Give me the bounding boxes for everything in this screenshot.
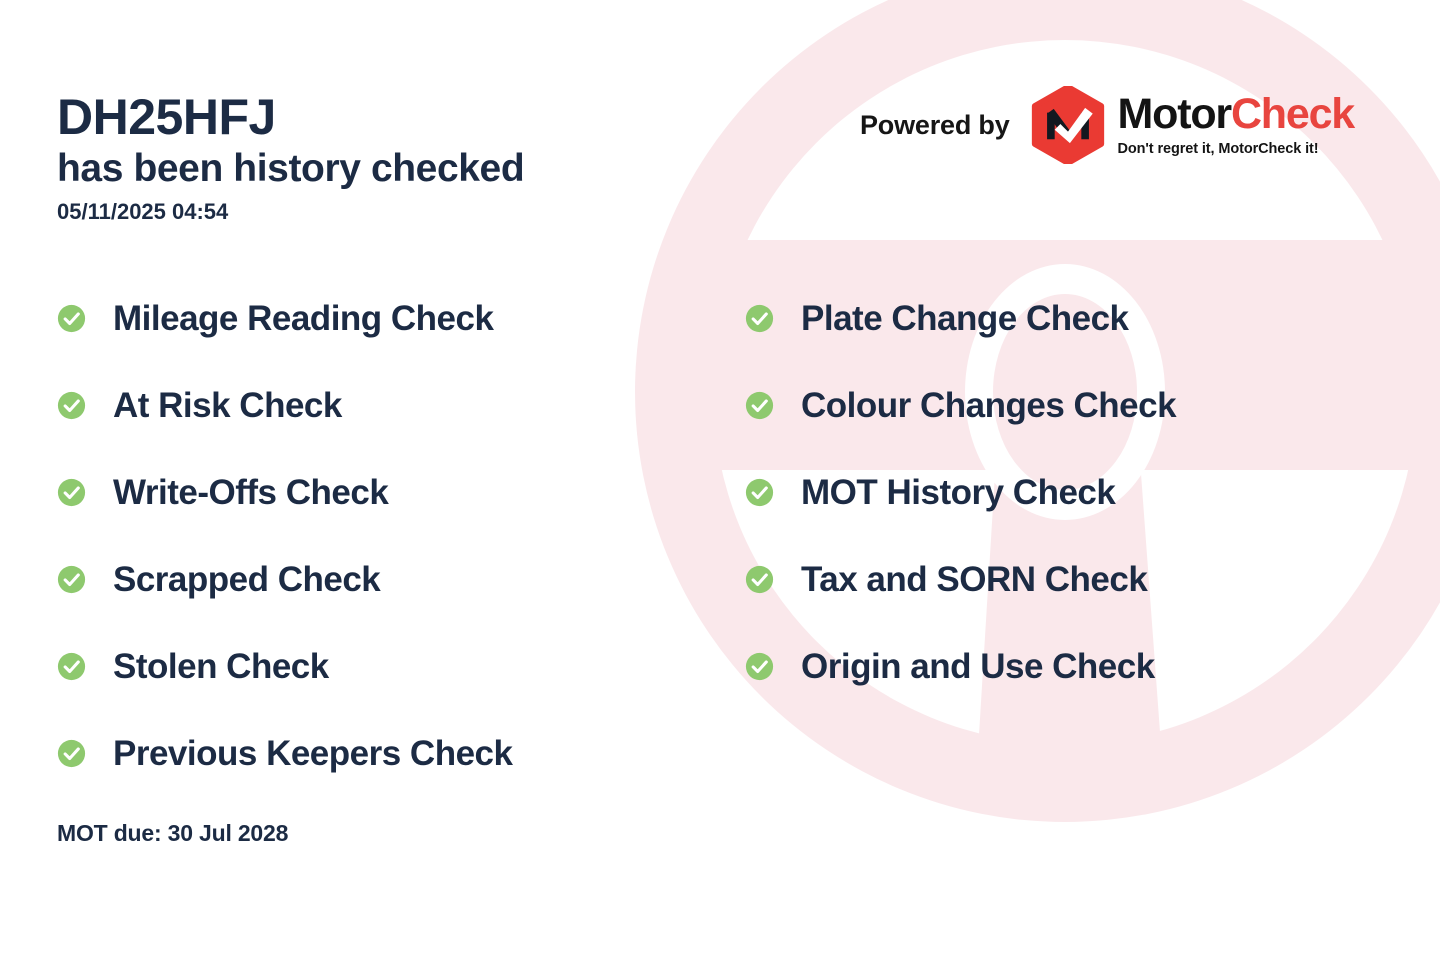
wordmark-check: Check xyxy=(1231,90,1354,138)
motorcheck-hexagon-logo-icon xyxy=(1030,86,1106,164)
check-circle-icon xyxy=(57,304,86,333)
check-circle-icon xyxy=(57,391,86,420)
check-label: MOT History Check xyxy=(801,475,1115,510)
list-item: Origin and Use Check xyxy=(745,642,1385,691)
check-label: Origin and Use Check xyxy=(801,649,1155,684)
check-circle-icon xyxy=(745,391,774,420)
check-list-right-column: Plate Change Check Colour Changes Check … xyxy=(745,294,1385,729)
report-header: DH25HFJ has been history checked 05/11/2… xyxy=(57,92,737,226)
page-title: has been history checked xyxy=(57,147,737,191)
list-item: Plate Change Check xyxy=(745,294,1385,343)
check-circle-icon xyxy=(745,304,774,333)
list-item: Write-Offs Check xyxy=(57,468,697,517)
check-circle-icon xyxy=(57,739,86,768)
check-circle-icon xyxy=(57,478,86,507)
powered-by-brand-block: Powered by MotorCheck Don't regret it, M… xyxy=(860,86,1354,164)
check-circle-icon xyxy=(745,478,774,507)
check-list-left-column: Mileage Reading Check At Risk Check Writ… xyxy=(57,294,697,816)
list-item: Previous Keepers Check xyxy=(57,729,697,778)
check-label: Tax and SORN Check xyxy=(801,562,1147,597)
report-timestamp: 05/11/2025 04:54 xyxy=(57,199,737,225)
check-label: Colour Changes Check xyxy=(801,388,1176,423)
list-item: Stolen Check xyxy=(57,642,697,691)
history-check-card: DH25HFJ has been history checked 05/11/2… xyxy=(0,0,1440,960)
list-item: MOT History Check xyxy=(745,468,1385,517)
mot-due-text: MOT due: 30 Jul 2028 xyxy=(57,820,288,847)
brand-tagline: Don't regret it, MotorCheck it! xyxy=(1118,141,1354,157)
check-label: Plate Change Check xyxy=(801,301,1129,336)
wordmark-text: MotorCheck xyxy=(1118,93,1354,136)
check-label: Stolen Check xyxy=(113,649,329,684)
powered-by-label: Powered by xyxy=(860,110,1010,141)
check-label: Write-Offs Check xyxy=(113,475,388,510)
wordmark-motor: Motor xyxy=(1118,90,1231,138)
check-circle-icon xyxy=(745,565,774,594)
check-circle-icon xyxy=(745,652,774,681)
check-label: At Risk Check xyxy=(113,388,342,423)
list-item: Mileage Reading Check xyxy=(57,294,697,343)
check-circle-icon xyxy=(57,652,86,681)
check-circle-icon xyxy=(57,565,86,594)
registration-plate-number: DH25HFJ xyxy=(57,92,737,143)
check-label: Mileage Reading Check xyxy=(113,301,493,336)
list-item: Scrapped Check xyxy=(57,555,697,604)
motorcheck-wordmark: MotorCheck Don't regret it, MotorCheck i… xyxy=(1118,93,1354,157)
check-label: Previous Keepers Check xyxy=(113,736,512,771)
check-label: Scrapped Check xyxy=(113,562,380,597)
list-item: Colour Changes Check xyxy=(745,381,1385,430)
list-item: Tax and SORN Check xyxy=(745,555,1385,604)
list-item: At Risk Check xyxy=(57,381,697,430)
